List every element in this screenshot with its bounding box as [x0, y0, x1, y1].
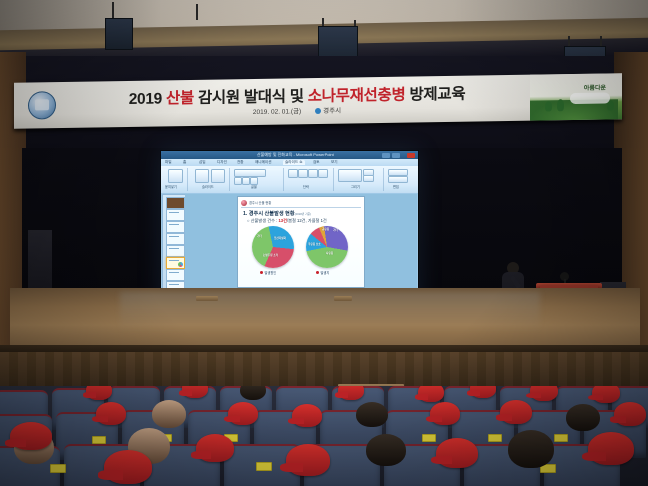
- banner-art-word: 아름다운: [584, 82, 606, 91]
- shapes-icon[interactable]: [338, 169, 362, 182]
- slide-thumbnail[interactable]: [166, 197, 185, 209]
- pie-chart-caption: 발생지: [316, 270, 329, 275]
- attendee-head: [152, 400, 186, 428]
- slide-badge-text: 경주시 산불 현황: [249, 200, 271, 205]
- minimize-button[interactable]: [382, 153, 390, 158]
- attendee-cap: [436, 438, 478, 468]
- bold-icon[interactable]: [234, 177, 242, 185]
- auditorium-scene: 2019 산불 감시원 발대식 및 소나무재선충병 방제교육 2019. 02.…: [0, 0, 648, 486]
- close-button[interactable]: [407, 153, 415, 158]
- ribbon: 붙여넣기 슬라이드 글꼴: [161, 166, 418, 194]
- ribbon-tab-strip: 파일 홈 삽입 디자인 전환 애니메이션 슬라이드 쇼 검토 보기: [161, 159, 418, 166]
- pie-slice-label: 공유림: [322, 228, 329, 231]
- maximize-button[interactable]: [392, 153, 400, 158]
- seat-number-tag: [50, 464, 66, 473]
- slide-thumbnail[interactable]: [166, 269, 185, 281]
- current-slide[interactable]: 경주시 산불 현황 1. 경주시 산불발생 현황(2018년 기준) ○ 산불발…: [237, 196, 365, 288]
- pie-slice-label: 입산자실화: [274, 237, 286, 240]
- attendee-cap: [530, 386, 558, 401]
- attendee-cap: [614, 402, 646, 426]
- bullets-icon[interactable]: [288, 169, 298, 178]
- pie-chart-location: [306, 226, 348, 268]
- seat-number-tag: [488, 434, 502, 442]
- slide-thumbnail[interactable]: [166, 245, 185, 257]
- italic-icon[interactable]: [242, 177, 250, 185]
- banner-title-mid-1: 감시원 발대식 및: [198, 88, 304, 107]
- slide-bullet-value: 13건: [278, 218, 287, 223]
- banner-art-text-plate: [570, 92, 610, 104]
- banner-tree-icon: [557, 99, 564, 111]
- banner-organizer: 경주시: [323, 108, 341, 115]
- attendee-head: [356, 402, 388, 427]
- tab-animations[interactable]: 애니메이션: [255, 160, 272, 165]
- pie-slice-label: 기타: [333, 229, 338, 232]
- seat-number-tag: [554, 434, 568, 442]
- slide-badge-icon: [241, 200, 247, 206]
- tab-slideshow[interactable]: 슬라이드 쇼: [283, 160, 305, 165]
- stage-step: [196, 296, 218, 301]
- powerpoint-window[interactable]: 산불예방 및 진화교육 - Microsoft PowerPoint 파일 홈 …: [161, 151, 418, 307]
- banner-artwork: 아름다운: [530, 73, 622, 120]
- slide-divider: [241, 207, 361, 208]
- caption-bullet-icon: [260, 271, 263, 274]
- attendee-cap: [86, 386, 112, 400]
- city-emblem-icon: [28, 91, 56, 119]
- caption-bullet-icon: [316, 271, 319, 274]
- projection-screen: 산불예방 및 진화교육 - Microsoft PowerPoint 파일 홈 …: [161, 151, 418, 307]
- ribbon-group-slides: 슬라이드: [189, 168, 230, 191]
- stage-step: [334, 296, 352, 301]
- tab-view[interactable]: 보기: [331, 160, 338, 165]
- pie-chart-cause: [252, 226, 294, 268]
- paste-icon[interactable]: [168, 169, 183, 183]
- attendee-cap: [418, 386, 444, 402]
- banner-title-red-2: 소나무재선충병: [308, 87, 406, 106]
- slide-thumbnail[interactable]: [166, 209, 185, 221]
- slide-heading: 1. 경주시 산불발생 현황(2018년 기준): [243, 210, 311, 217]
- slide-heading-note: (2018년 기준): [295, 212, 312, 216]
- attendee-cap: [104, 450, 152, 484]
- ribbon-group-editing: 편집: [385, 168, 415, 191]
- pie-slice-label: 사유림: [326, 252, 333, 255]
- banner-date: 2019. 02. 01.(금): [253, 108, 301, 116]
- audience-area: [0, 386, 648, 486]
- find-icon[interactable]: [388, 169, 408, 176]
- attendee-head: [566, 404, 600, 431]
- slide-bullet: ○ 산불발생 건수 : 13건/봄철 12건, 가을철 1건: [247, 218, 327, 224]
- attendee-cap: [430, 402, 460, 425]
- attendee-cap: [10, 422, 52, 450]
- pie-slice-label: 국유림 보호: [308, 243, 321, 246]
- ribbon-group-label: 단락: [303, 184, 309, 189]
- window-title: 산불예방 및 진화교육 - Microsoft PowerPoint: [257, 152, 334, 158]
- ribbon-group-drawing: 그리기: [335, 168, 384, 191]
- new-slide-icon[interactable]: [195, 169, 209, 183]
- window-title-bar: 산불예방 및 진화교육 - Microsoft PowerPoint: [161, 151, 418, 159]
- banner-tree-icon: [545, 101, 552, 111]
- replace-icon[interactable]: [388, 176, 408, 183]
- layout-icon[interactable]: [211, 169, 225, 183]
- tab-transitions[interactable]: 전환: [237, 160, 244, 165]
- quick-styles-icon[interactable]: [363, 175, 374, 182]
- ribbon-group-label: 편집: [393, 184, 399, 189]
- pie-chart-caption: 발생원인: [260, 270, 276, 275]
- attendee-cap: [500, 400, 532, 424]
- attendee-cap: [196, 434, 234, 462]
- ribbon-group-label: 글꼴: [251, 184, 257, 189]
- stage-floor-reflection: [120, 292, 540, 332]
- speaker-rod: [196, 4, 198, 20]
- attendee-head: [366, 434, 406, 466]
- pie-slice-label: 기타: [257, 235, 262, 238]
- slide-thumbnail-selected[interactable]: [166, 257, 185, 269]
- event-banner: 2019 산불 감시원 발대식 및 소나무재선충병 방제교육 2019. 02.…: [14, 73, 622, 129]
- attendee-cap: [292, 404, 322, 427]
- banner-title-year: 2019: [129, 90, 162, 108]
- organizer-logo-icon: [315, 108, 321, 114]
- slide-thumbnail[interactable]: [166, 221, 185, 233]
- ribbon-group-label: 붙여넣기: [165, 184, 177, 189]
- slide-canvas-area: 경주시 산불 현황 1. 경주시 산불발생 현황(2018년 기준) ○ 산불발…: [185, 194, 417, 293]
- tab-insert[interactable]: 삽입: [199, 160, 206, 165]
- ribbon-group-paragraph: 단락: [285, 168, 334, 191]
- tab-file[interactable]: 파일: [165, 160, 172, 165]
- slide-thumbnail[interactable]: [166, 233, 185, 245]
- attendee-cap: [592, 386, 620, 403]
- attendee-cap: [588, 432, 634, 465]
- pie-slice-label: 논밭두렁 소각: [263, 254, 278, 257]
- attendee-cap: [228, 402, 258, 425]
- align-center-icon[interactable]: [318, 169, 328, 178]
- ribbon-group-font: 글꼴: [231, 168, 284, 191]
- ceiling-speaker: [105, 18, 133, 50]
- ribbon-group-paste: 붙여넣기: [163, 168, 188, 191]
- numbering-icon[interactable]: [298, 169, 308, 178]
- seat-number-tag: [256, 462, 272, 471]
- tab-design[interactable]: 디자인: [217, 160, 227, 165]
- banner-title-red-1: 산불: [166, 90, 194, 107]
- align-left-icon[interactable]: [308, 169, 318, 178]
- tab-review[interactable]: 검토: [313, 160, 320, 165]
- slide-thumbnail-panel[interactable]: [162, 194, 186, 295]
- font-box-icon[interactable]: [234, 169, 266, 177]
- attendee-cap: [286, 444, 330, 476]
- ribbon-group-label: 그리기: [351, 184, 360, 189]
- ribbon-group-label: 슬라이드: [202, 184, 214, 189]
- banner-title-mid-2: 방제교육: [409, 86, 465, 104]
- seat-number-tag: [92, 436, 106, 444]
- seat-number-tag: [422, 434, 436, 442]
- attendee-cap: [338, 386, 364, 400]
- attendee-cap: [96, 402, 126, 425]
- tab-home[interactable]: 홈: [183, 160, 186, 165]
- attendee-head: [508, 430, 554, 468]
